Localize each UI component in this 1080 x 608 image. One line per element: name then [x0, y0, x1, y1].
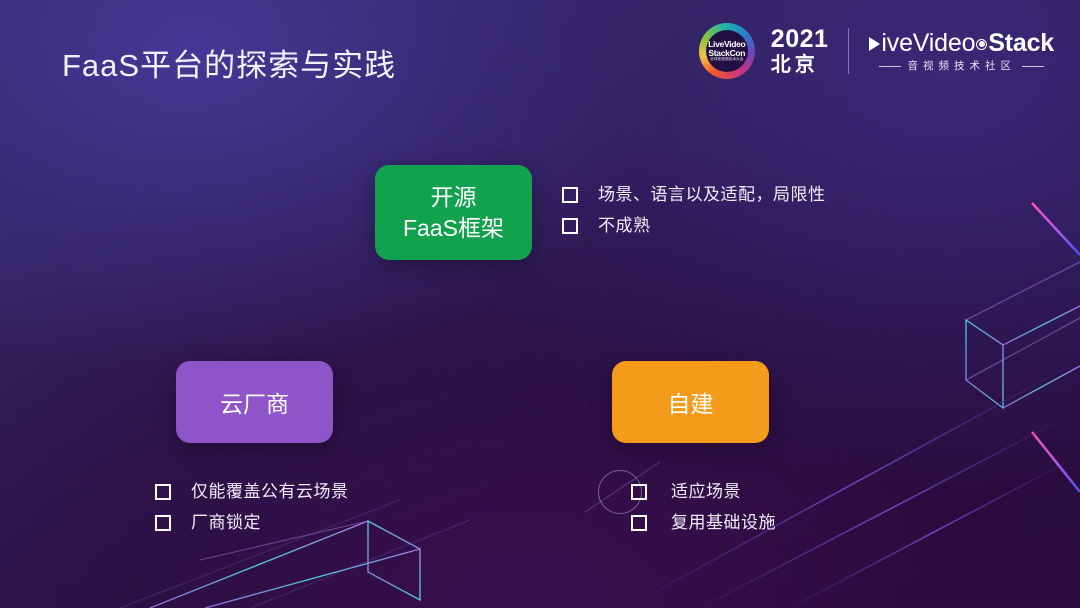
open-source-line-2: FaaS框架: [403, 213, 504, 243]
conference-badge-icon: LiveVideo StackCon 全球音视频技术大会: [699, 23, 755, 79]
logo-wordmark: ive Video Stack: [869, 31, 1054, 56]
list-item-label: 场景、语言以及适配，局限性: [598, 186, 826, 203]
play-triangle-icon: [869, 37, 880, 51]
list-item-label: 不成熟: [598, 217, 651, 234]
livevideostack-logo: ive Video Stack 音视频技术社区: [869, 31, 1054, 72]
wordmark-part-1: ive: [881, 31, 912, 56]
brand-bar: LiveVideo StackCon 全球音视频技术大会 2021 北京 ive…: [699, 22, 1054, 80]
square-bullet-icon: [562, 187, 578, 203]
tagline-rule-right: [1022, 66, 1044, 67]
bullet-list-cloud-vendor: 仅能覆盖公有云场景 厂商锁定: [155, 483, 349, 531]
logo-tagline-wrap: 音视频技术社区: [869, 61, 1054, 72]
list-item: 厂商锁定: [155, 514, 349, 531]
record-dot-icon: [976, 39, 987, 50]
list-item-label: 厂商锁定: [191, 514, 261, 531]
square-bullet-icon: [155, 515, 171, 531]
concept-box-self-built: 自建: [612, 361, 769, 443]
list-item-label: 复用基础设施: [671, 514, 776, 531]
event-city: 北京: [771, 55, 829, 75]
page-title: FaaS平台的探索与实践: [62, 40, 396, 85]
bullet-list-open-source: 场景、语言以及适配，局限性 不成熟: [562, 186, 826, 234]
list-item: 不成熟: [562, 217, 826, 234]
wordmark-part-2: Video: [913, 31, 976, 56]
open-source-line-1: 开源: [431, 182, 477, 212]
square-bullet-icon: [155, 484, 171, 500]
list-item: 复用基础设施: [631, 514, 776, 531]
tagline-rule-left: [879, 66, 901, 67]
list-item: 仅能覆盖公有云场景: [155, 483, 349, 500]
presentation-slide: FaaS平台的探索与实践 LiveVideo StackCon 全球音视频技术大…: [0, 0, 1080, 608]
bullet-list-self-built: 适应场景 复用基础设施: [631, 483, 776, 531]
cloud-vendor-label: 云厂商: [220, 385, 289, 419]
concept-box-cloud-vendor: 云厂商: [176, 361, 333, 443]
square-bullet-icon: [631, 515, 647, 531]
square-bullet-icon: [562, 218, 578, 234]
list-item-label: 适应场景: [671, 483, 741, 500]
wordmark-part-3: Stack: [988, 31, 1054, 56]
self-built-label: 自建: [668, 385, 714, 419]
badge-line-3: 全球音视频技术大会: [708, 58, 745, 62]
concept-box-open-source: 开源 FaaS框架: [375, 165, 532, 260]
square-bullet-icon: [631, 484, 647, 500]
event-year: 2021: [771, 27, 829, 52]
event-year-city: 2021 北京: [771, 27, 829, 75]
list-item: 适应场景: [631, 483, 776, 500]
brand-divider: [848, 28, 849, 74]
list-item: 场景、语言以及适配，局限性: [562, 186, 826, 203]
list-item-label: 仅能覆盖公有云场景: [191, 483, 349, 500]
logo-tagline: 音视频技术社区: [907, 61, 1016, 72]
